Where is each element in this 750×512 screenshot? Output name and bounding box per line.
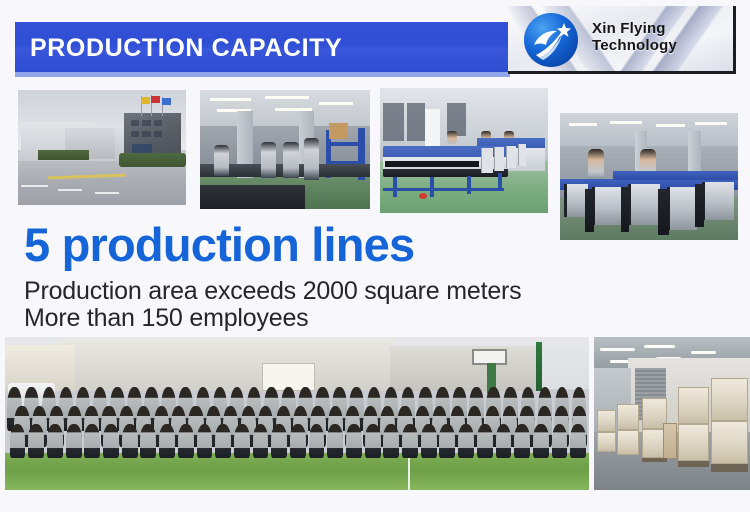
assembly-line-photo: [200, 90, 370, 209]
employee-figure: [66, 424, 82, 458]
employee-figure: [383, 424, 399, 458]
employee-figure: [365, 424, 381, 458]
employee-figure: [84, 424, 100, 458]
employee-figure: [28, 424, 44, 458]
logo-line-1: Xin Flying: [592, 20, 677, 37]
employee-figure: [47, 424, 63, 458]
employee-figure: [215, 424, 231, 458]
headline-production-lines: 5 production lines: [24, 219, 414, 271]
employee-figure: [122, 424, 138, 458]
employee-figure: [346, 424, 362, 458]
employee-figure: [570, 424, 586, 458]
employee-figure: [514, 424, 530, 458]
employee-figure: [197, 424, 213, 458]
logo-line-2: Technology: [592, 37, 677, 54]
employee-figure: [402, 424, 418, 458]
page-title: PRODUCTION CAPACITY: [30, 34, 342, 62]
employee-figure: [178, 424, 194, 458]
machine-floor-photo: [560, 113, 738, 240]
subtext-employees: More than 150 employees: [24, 304, 308, 333]
employee-rows: [5, 387, 589, 457]
employee-figure: [458, 424, 474, 458]
employee-figure: [533, 424, 549, 458]
employee-group-photo: [5, 337, 589, 490]
employee-figure: [253, 424, 269, 458]
logo-wordmark: Xin Flying Technology: [592, 20, 677, 54]
factory-exterior-photo: [18, 90, 186, 205]
flying-swan-star-emblem-icon: [524, 13, 578, 67]
subtext-production-area: Production area exceeds 2000 square mete…: [24, 277, 521, 306]
employee-figure: [552, 424, 568, 458]
company-logo: Xin Flying Technology: [508, 6, 736, 74]
employee-figure: [309, 424, 325, 458]
employee-figure: [290, 424, 306, 458]
employee-figure: [103, 424, 119, 458]
employee-figure: [159, 424, 175, 458]
employee-figure: [327, 424, 343, 458]
employee-figure: [439, 424, 455, 458]
employee-figure: [271, 424, 287, 458]
employee-figure: [477, 424, 493, 458]
employee-figure: [10, 424, 26, 458]
employee-figure: [140, 424, 156, 458]
employee-figure: [234, 424, 250, 458]
production-capacity-banner: PRODUCTION CAPACITY Xin Flying Technolog…: [0, 0, 750, 512]
employee-figure: [421, 424, 437, 458]
printer-production-photo: [380, 88, 548, 213]
warehouse-photo: [594, 337, 750, 490]
employee-figure: [496, 424, 512, 458]
